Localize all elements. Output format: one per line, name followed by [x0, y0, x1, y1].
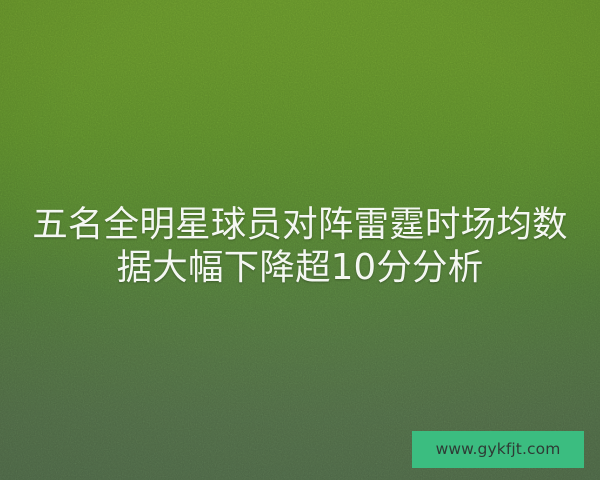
page-title: 五名全明星球员对阵雷霆时场均数据大幅下降超10分分析 [26, 203, 574, 289]
image-canvas: 五名全明星球员对阵雷霆时场均数据大幅下降超10分分析 www.gykfjt.co… [0, 0, 600, 480]
watermark-url-text: www.gykfjt.com [436, 442, 561, 458]
watermark-badge: www.gykfjt.com [412, 431, 584, 468]
